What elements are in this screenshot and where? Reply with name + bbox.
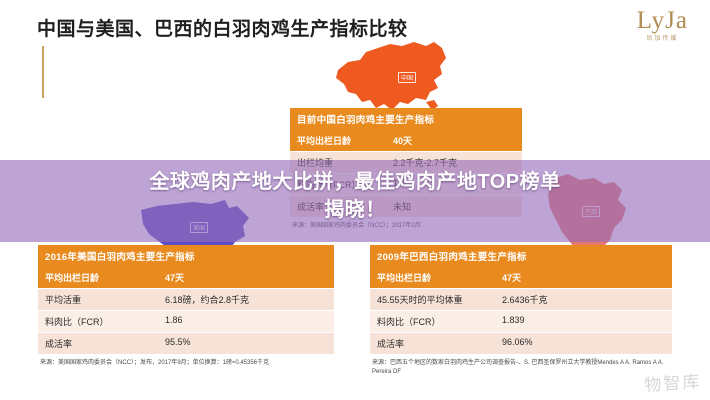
page-title: 中国与美国、巴西的白羽肉鸡生产指标比较 [37,14,408,41]
cell-value: 47天 [158,267,334,288]
table-row: 料肉比（FCR） 1.839 [370,311,672,333]
cell-label: 成活率 [370,333,495,354]
cell-value: 96.06% [495,333,672,354]
cell-label: 平均活重 [38,289,158,310]
table-row: 平均出栏日龄 47天 [38,267,334,289]
china-map-shape [330,40,450,118]
table-brazil-source: 来源：巴西五个地区的数家白羽肉鸡生产公司调查报告-、S. 巴西圣保罗州立大学教授… [370,355,672,376]
logo-subtitle: 凤加传媒 [637,36,688,42]
map-china: 中国 [330,40,450,118]
table-brazil: 2009年巴西白羽肉鸡主要生产指标 平均出栏日龄 47天 45.55天时的平均体… [370,245,672,376]
table-us-header: 2016年美国白羽肉鸡主要生产指标 [38,245,334,267]
poster-image: 中国与美国、巴西的白羽肉鸡生产指标比较 LyJa 凤加传媒 中国 美国 巴西 目… [0,0,710,400]
cell-label: 45.55天时的平均体重 [370,289,495,310]
cell-value: 1.86 [158,311,334,332]
cell-label: 平均出栏日龄 [290,130,386,151]
cell-value: 40天 [386,130,522,151]
cell-value: 2.6436千克 [495,289,672,310]
headline-line-2: 揭晓！ [0,196,710,224]
table-row: 成活率 95.5% [38,333,334,355]
logo-wordmark: LyJa [637,8,688,33]
table-row: 平均活重 6.18磅，约合2.8千克 [38,289,334,311]
table-brazil-header: 2009年巴西白羽肉鸡主要生产指标 [370,245,672,267]
cell-value: 47天 [495,267,672,288]
map-label-china: 中国 [398,72,416,83]
table-row: 成活率 96.06% [370,333,672,355]
table-china-header: 目前中国白羽肉鸡主要生产指标 [290,108,522,130]
headline-text: 全球鸡肉产地大比拼，最佳鸡肉产地TOP榜单 揭晓！ [0,168,710,225]
cell-label: 成活率 [38,333,158,354]
brand-logo: LyJa 凤加传媒 [637,8,688,42]
cell-label: 平均出栏日龄 [38,267,158,288]
cell-value: 95.5% [158,333,334,354]
cell-label: 平均出栏日龄 [370,267,495,288]
cell-value: 1.839 [495,311,672,332]
headline-line-1: 全球鸡肉产地大比拼，最佳鸡肉产地TOP榜单 [149,171,560,193]
table-us-source: 来源：美国国家鸡肉委员会（NCC）；发布，2017年9月；单位换算：1磅≈0.4… [38,355,334,368]
cell-label: 料肉比（FCR） [370,311,495,332]
table-row: 料肉比（FCR） 1.86 [38,311,334,333]
table-us: 2016年美国白羽肉鸡主要生产指标 平均出栏日龄 47天 平均活重 6.18磅，… [38,245,334,368]
table-row: 平均出栏日龄 40天 [290,130,522,152]
table-row: 平均出栏日龄 47天 [370,267,672,289]
table-row: 45.55天时的平均体重 2.6436千克 [370,289,672,311]
cell-label: 料肉比（FCR） [38,311,158,332]
accent-divider [42,46,44,98]
cell-value: 6.18磅，约合2.8千克 [158,289,334,310]
